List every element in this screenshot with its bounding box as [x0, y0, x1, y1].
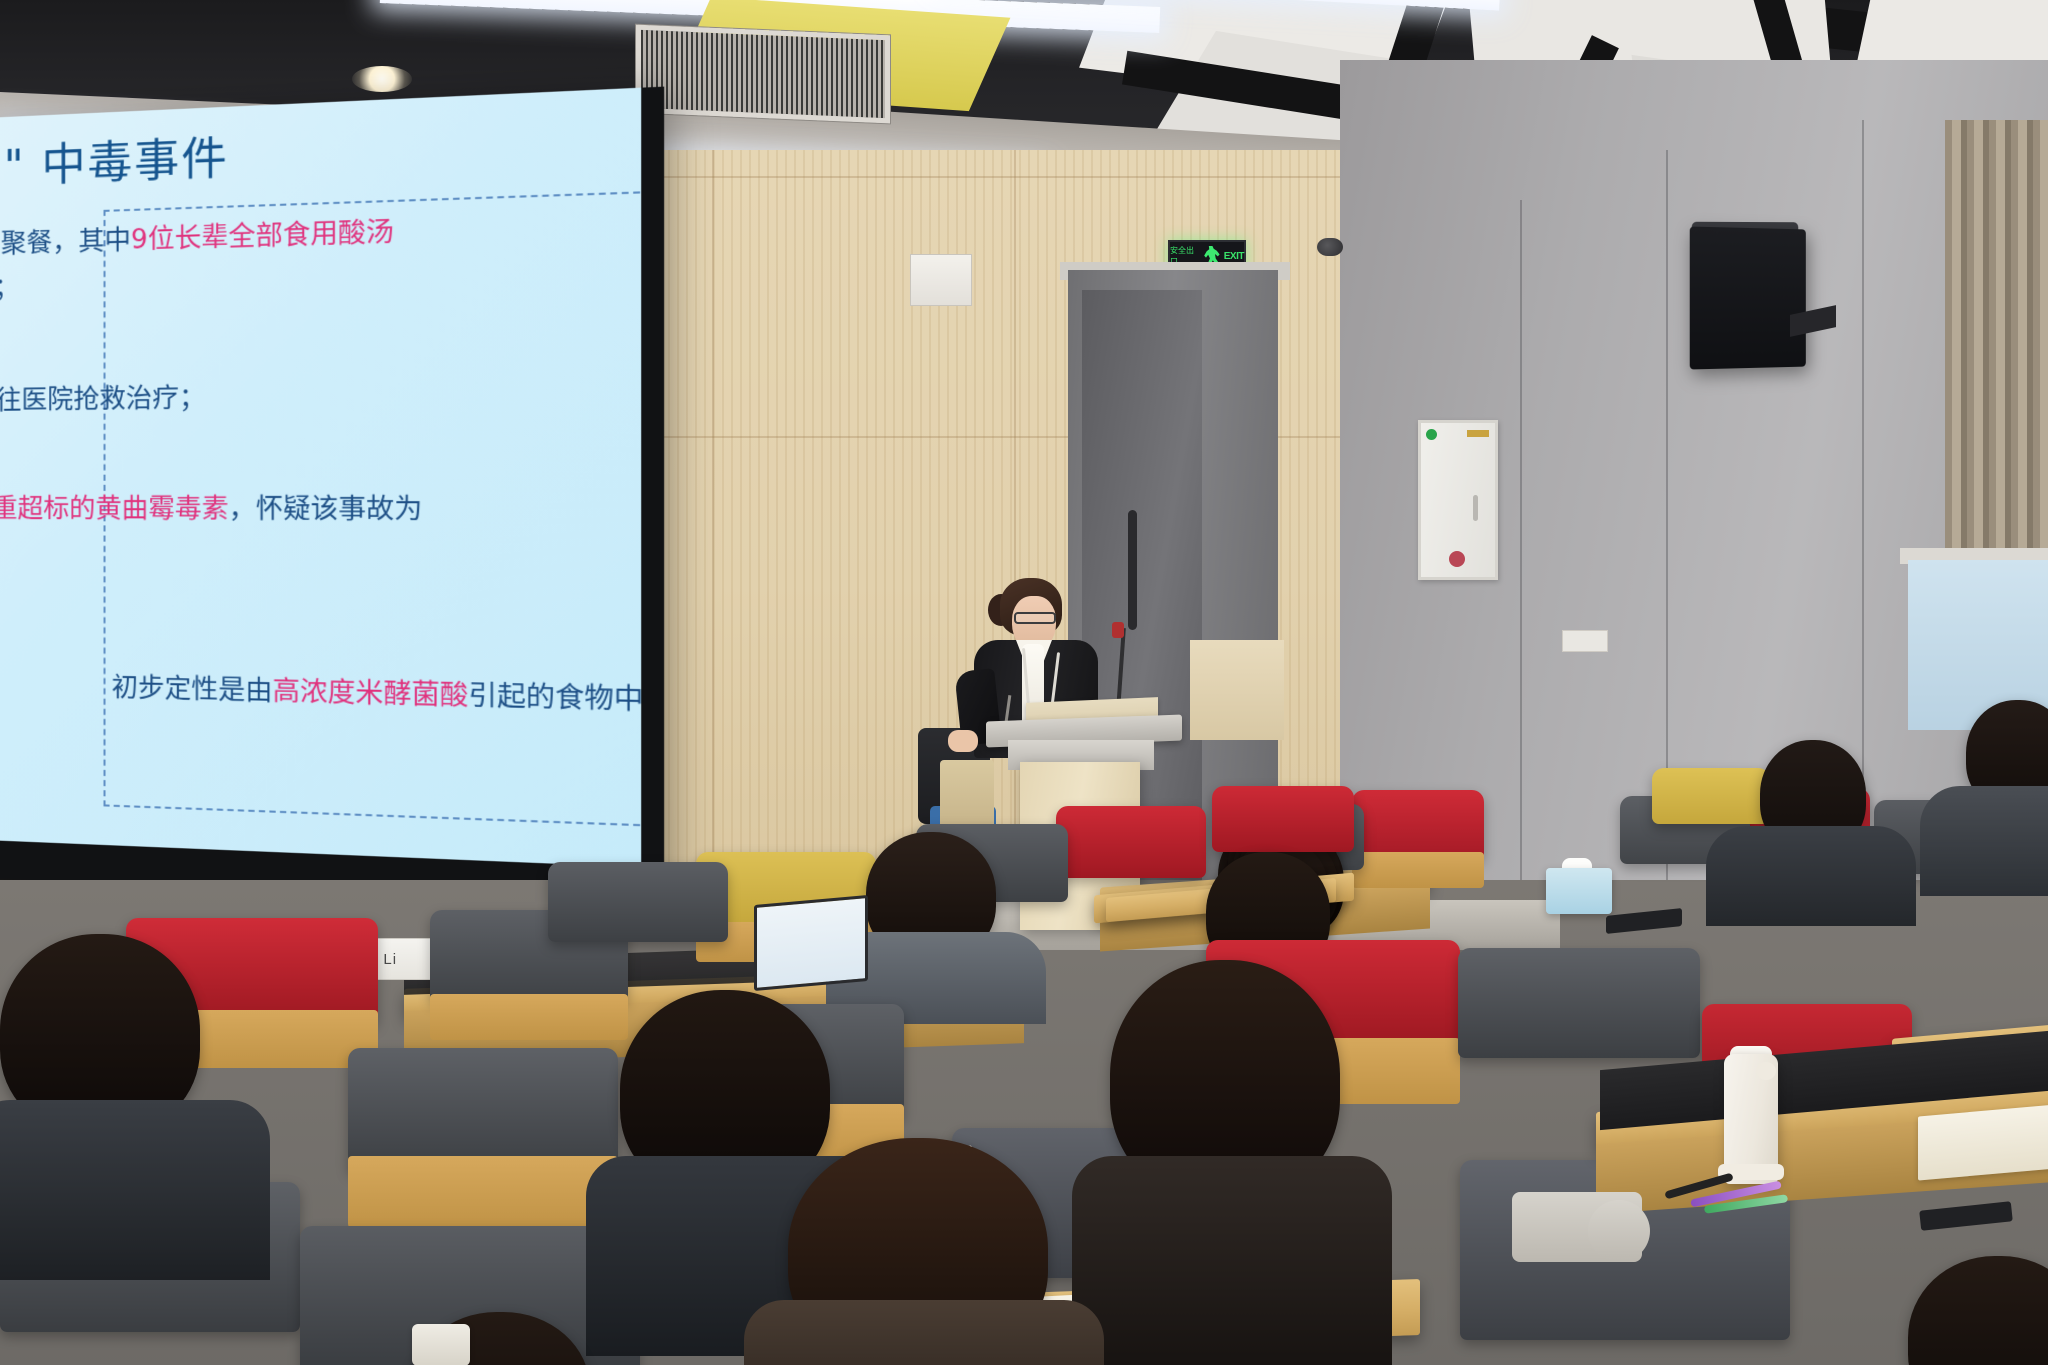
- presenter-glasses: [1014, 612, 1056, 624]
- wood-seam-vert-2: [1014, 150, 1016, 940]
- seat-grey-front-1: [348, 1048, 618, 1172]
- seat-red-mid-2: [1056, 806, 1206, 878]
- slide-bullet-5-prefix: 初步定性是由: [112, 673, 273, 707]
- slide-bullet-1-prefix: 共12人参加聚餐，其中: [0, 225, 131, 263]
- slide-bullet-5-rest: 引起的食物中毒: [468, 680, 641, 717]
- wood-seam-2: [560, 176, 1390, 178]
- fire-seal-icon: [1449, 551, 1465, 567]
- laptop-screen[interactable]: [754, 895, 868, 991]
- ceiling-air-vent: [636, 25, 890, 124]
- tissue-box: [1546, 868, 1612, 914]
- seat-wood-front-2: [348, 1156, 618, 1228]
- projection-screen-frame: 酸汤子" 中毒事件 共12人参加聚餐，其中9位长辈全部食用酸汤 感没有食用； 适…: [0, 87, 664, 910]
- seat-red-back-1: [1352, 790, 1484, 860]
- slide-content: 酸汤子" 中毒事件: [0, 103, 641, 201]
- seat-yellow-back-1: [1652, 768, 1770, 824]
- slide-bullet-4-highlight: 严重超标的黄曲霉毒素: [0, 494, 229, 525]
- student-shoulders-foreground-center2: [744, 1300, 1104, 1365]
- grey-wall-seam-1: [1520, 200, 1522, 900]
- lecture-hall-photo: 安全出口 EXIT 酸汤子" 中毒事件 共12人参加聚餐，其中9位长辈全部食用酸…: [0, 0, 2048, 1365]
- stage-bag: [940, 760, 994, 834]
- slide-bullet-4: 中检测出严重超标的黄曲霉毒素，怀疑该事故为: [0, 490, 422, 531]
- light-switch-plate[interactable]: [1562, 630, 1608, 652]
- slide-bullet-2: 感没有食用；: [0, 269, 20, 312]
- seat-wood-mid-2: [430, 994, 628, 1040]
- seat-grey-mid-2: [548, 862, 728, 942]
- wall-mounted-speaker: [1690, 227, 1806, 370]
- presenter-left-hand: [948, 730, 978, 752]
- cabinet-handle[interactable]: [1473, 495, 1478, 521]
- student-shoulders-foreground-center: [1072, 1156, 1392, 1365]
- microphone-head: [1112, 622, 1124, 638]
- projection-screen: 酸汤子" 中毒事件 共12人参加聚餐，其中9位长辈全部食用酸汤 感没有食用； 适…: [0, 88, 641, 868]
- slide-bullet-4-rest: ，怀疑该事故为: [229, 494, 423, 526]
- slide-bullet-5-highlight: 高浓度米酵菌酸: [273, 676, 469, 712]
- thermos-knob: [1756, 1062, 1776, 1080]
- student-shoulders-back-right-2: [1920, 786, 2048, 896]
- seat-grey-front-3: [1458, 948, 1700, 1058]
- rolled-jacket-end: [1588, 1200, 1650, 1262]
- door-side-wood-panel: [1190, 640, 1284, 740]
- paper-cup-bottom: [412, 1324, 470, 1365]
- green-indicator-icon: [1426, 429, 1437, 440]
- notebook-on-desk[interactable]: [1918, 1103, 2048, 1180]
- fire-hose-cabinet[interactable]: [1418, 420, 1498, 580]
- slide-bullet-1-highlight: 9位长辈全部食用酸汤: [131, 217, 394, 256]
- seat-red-mid-3: [1212, 786, 1354, 852]
- slide-bullet-3-rest: ，紧急送往医院抢救治疗；: [0, 383, 206, 417]
- wood-seam-vert-1: [712, 150, 714, 940]
- grey-wall-seam-3: [1862, 120, 1864, 820]
- cabinet-label-plate: [1467, 430, 1489, 437]
- student-shoulders-back-right-1: [1706, 826, 1916, 926]
- exit-sign-en-label: EXIT: [1224, 251, 1244, 262]
- smoke-detector-icon: [1317, 238, 1343, 256]
- downlight-3: [352, 66, 412, 92]
- seat-wood-back-1: [1352, 852, 1484, 888]
- door-handle[interactable]: [1128, 510, 1137, 630]
- student-shoulders-foreground-left: [0, 1100, 270, 1280]
- wall-notice-plate: [910, 254, 972, 306]
- slide-bullet-3: 适，紧急送往医院抢救治疗；: [0, 379, 206, 422]
- slide-title: 酸汤子" 中毒事件: [0, 103, 641, 201]
